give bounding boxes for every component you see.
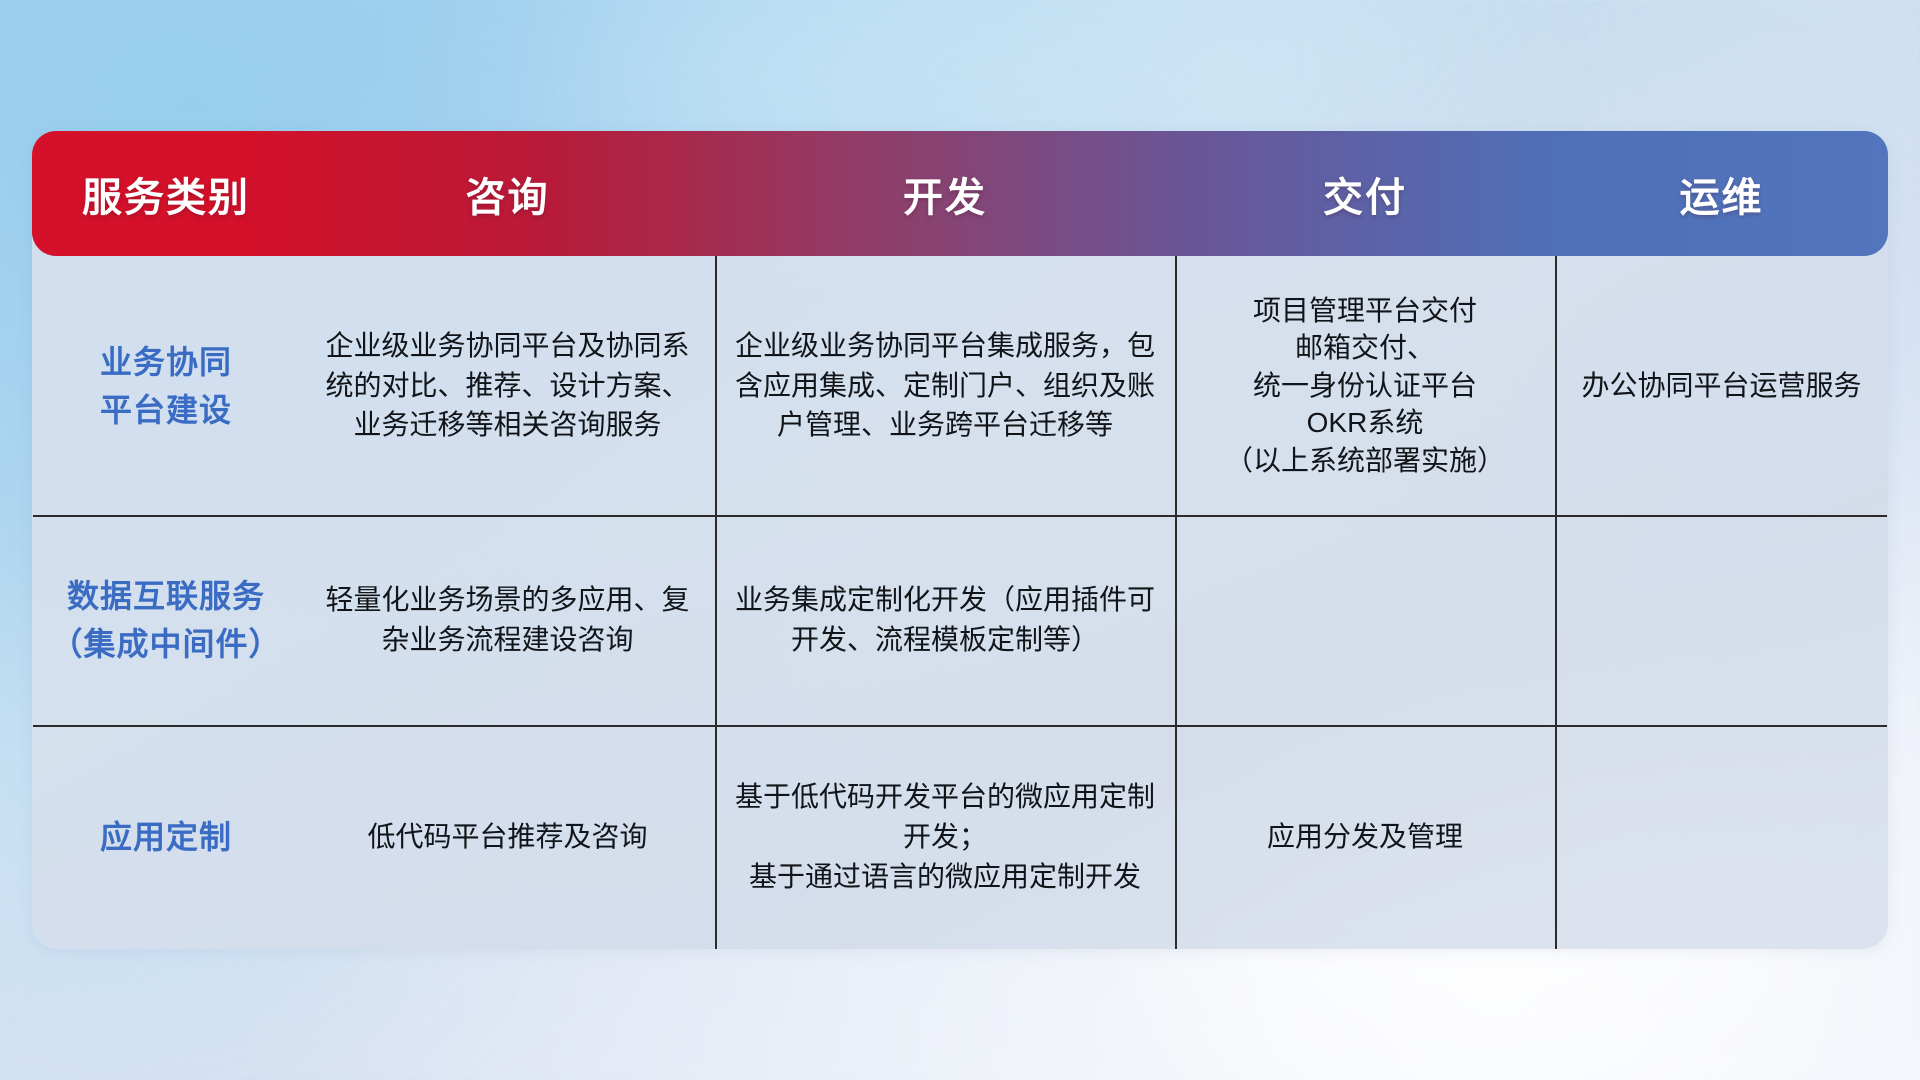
row-label-data-integration: 数据互联服务（集成中间件） [32,515,300,725]
cell-development-row-2: 业务集成定制化开发（应用插件可开发、流程模板定制等） [715,515,1175,725]
header-cell-delivery: 交付 [1175,131,1555,256]
row-label-business-collaboration: 业务协同平台建设 [32,256,300,515]
table-body: 业务协同平台建设 企业级业务协同平台及协同系统的对比、推荐、设计方案、业务迁移等… [32,256,1888,949]
cell-delivery-row-3: 应用分发及管理 [1175,725,1555,949]
cell-delivery-row-1: 项目管理平台交付邮箱交付、统一身份认证平台OKR系统（以上系统部署实施） [1175,256,1555,515]
header-cell-category: 服务类别 [32,131,300,256]
cell-operations-row-1: 办公协同平台运营服务 [1555,256,1888,515]
table-header-row: 服务类别 咨询 开发 交付 运维 [32,131,1888,256]
table-row: 数据互联服务（集成中间件） 轻量化业务场景的多应用、复杂业务流程建设咨询 业务集… [32,515,1888,725]
cell-operations-row-3 [1555,725,1888,949]
header-cell-consulting: 咨询 [300,131,715,256]
cell-delivery-row-2 [1175,515,1555,725]
header-cell-operations: 运维 [1555,131,1888,256]
cell-development-row-1: 企业级业务协同平台集成服务，包含应用集成、定制门户、组织及账户管理、业务跨平台迁… [715,256,1175,515]
row-label-app-customization: 应用定制 [32,725,300,949]
header-cell-development: 开发 [715,131,1175,256]
cell-development-row-3: 基于低代码开发平台的微应用定制开发；基于通过语言的微应用定制开发 [715,725,1175,949]
cell-consulting-row-2: 轻量化业务场景的多应用、复杂业务流程建设咨询 [300,515,715,725]
cell-consulting-row-3: 低代码平台推荐及咨询 [300,725,715,949]
cell-operations-row-2 [1555,515,1888,725]
table-row: 应用定制 低代码平台推荐及咨询 基于低代码开发平台的微应用定制开发；基于通过语言… [32,725,1888,949]
table-row: 业务协同平台建设 企业级业务协同平台及协同系统的对比、推荐、设计方案、业务迁移等… [32,256,1888,515]
cell-consulting-row-1: 企业级业务协同平台及协同系统的对比、推荐、设计方案、业务迁移等相关咨询服务 [300,256,715,515]
